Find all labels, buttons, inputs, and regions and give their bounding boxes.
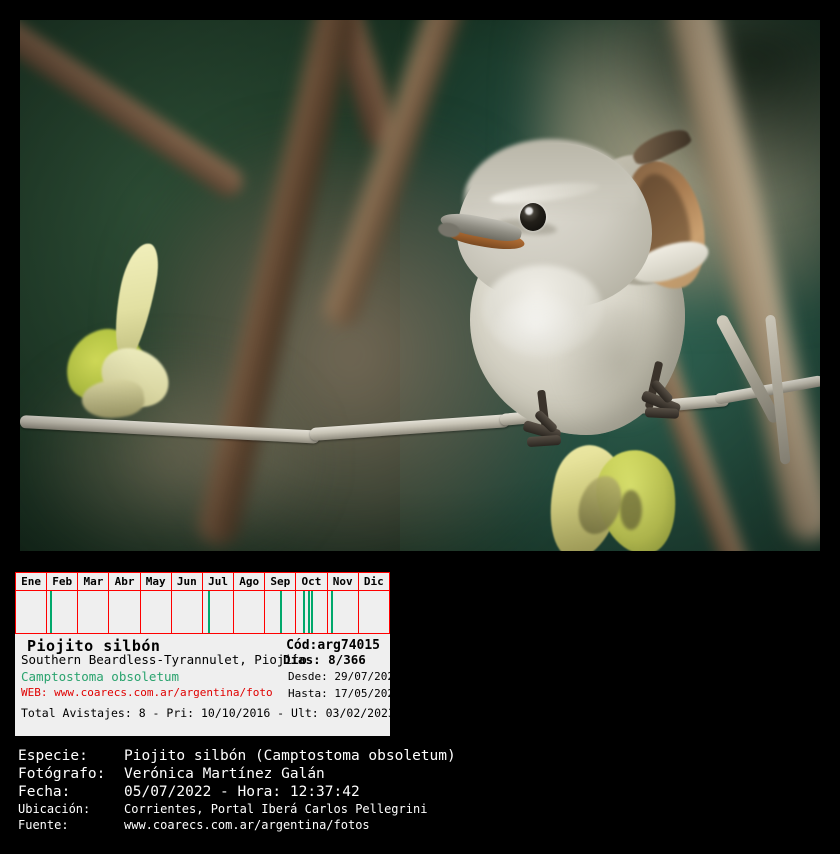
month-header-mar: Mar xyxy=(78,573,109,591)
sighting-tick xyxy=(311,591,313,633)
meta-label-fotografo: Fotógrafo: xyxy=(18,766,124,782)
month-header-ene: Ene xyxy=(16,573,47,591)
month-header-ago: Ago xyxy=(234,573,265,591)
month-header-sep: Sep xyxy=(265,573,296,591)
month-header-dic: Dic xyxy=(358,573,389,591)
month-header-may: May xyxy=(140,573,171,591)
card-text-block: Piojito silbón Cód:arg74015 Southern Bea… xyxy=(15,634,390,734)
card-desde-date: Desde: 29/07/2022 xyxy=(288,670,401,683)
metadata-block: Especie: Piojito silbón (Camptostoma obs… xyxy=(18,748,822,834)
calendar-cell-mar xyxy=(78,591,109,634)
meta-row-fuente: Fuente: www.coarecs.com.ar/argentina/fot… xyxy=(18,818,822,832)
month-header-feb: Feb xyxy=(47,573,78,591)
calendar-cell-abr xyxy=(109,591,140,634)
calendar-cell-jul xyxy=(202,591,233,634)
sighting-tick xyxy=(303,591,305,633)
species-info-card: Ene Feb Mar Abr May Jun Jul Ago Sep Oct … xyxy=(15,572,390,736)
calendar-cell-ene xyxy=(16,591,47,634)
meta-row-fotografo: Fotógrafo: Verónica Martínez Galán xyxy=(18,766,822,782)
meta-row-especie: Especie: Piojito silbón (Camptostoma obs… xyxy=(18,748,822,764)
calendar-cell-oct xyxy=(296,591,327,634)
card-title-row: Piojito silbón Cód:arg74015 xyxy=(21,637,384,653)
calendar-cell-nov xyxy=(327,591,358,634)
meta-value-ubicacion: Corrientes, Portal Iberá Carlos Pellegri… xyxy=(124,802,427,816)
calendar-ticks-row xyxy=(16,591,390,634)
calendar-header-row: Ene Feb Mar Abr May Jun Jul Ago Sep Oct … xyxy=(16,573,390,591)
month-header-abr: Abr xyxy=(109,573,140,591)
card-total-sightings: Total Avistajes: 8 - Pri: 10/10/2016 - U… xyxy=(21,706,395,720)
calendar-cell-dic xyxy=(358,591,389,634)
meta-row-fecha: Fecha: 05/07/2022 - Hora: 12:37:42 xyxy=(18,784,822,800)
meta-value-fuente[interactable]: www.coarecs.com.ar/argentina/fotos xyxy=(124,818,370,832)
card-web-link[interactable]: WEB: www.coarecs.com.ar/argentina/foto xyxy=(21,686,273,699)
meta-label-fecha: Fecha: xyxy=(18,784,124,800)
sighting-tick xyxy=(331,591,333,633)
sighting-tick xyxy=(280,591,282,633)
card-scientific-name: Camptostoma obsoletum xyxy=(21,669,179,684)
meta-label-fuente: Fuente: xyxy=(18,818,124,832)
meta-label-especie: Especie: xyxy=(18,748,124,764)
meta-value-fecha: 05/07/2022 - Hora: 12:37:42 xyxy=(124,784,360,800)
sighting-tick xyxy=(50,591,52,633)
month-header-nov: Nov xyxy=(327,573,358,591)
sighting-tick xyxy=(208,591,210,633)
meta-value-especie: Piojito silbón (Camptostoma obsoletum) xyxy=(124,748,456,764)
meta-row-ubicacion: Ubicación: Corrientes, Portal Iberá Carl… xyxy=(18,802,822,816)
calendar-cell-sep xyxy=(265,591,296,634)
monthly-sightings-calendar: Ene Feb Mar Abr May Jun Jul Ago Sep Oct … xyxy=(15,572,390,634)
bird-photo xyxy=(20,20,820,551)
meta-label-ubicacion: Ubicación: xyxy=(18,802,124,816)
month-header-jul: Jul xyxy=(202,573,233,591)
calendar-cell-ago xyxy=(234,591,265,634)
card-hasta-date: Hasta: 17/05/2025 xyxy=(288,687,401,700)
card-code: Cód:arg74015 xyxy=(286,638,380,653)
month-header-jun: Jun xyxy=(171,573,202,591)
card-days-counter: Días: 8/366 xyxy=(283,652,366,667)
calendar-cell-may xyxy=(140,591,171,634)
sighting-tick xyxy=(308,591,310,633)
month-header-oct: Oct xyxy=(296,573,327,591)
meta-value-fotografo: Verónica Martínez Galán xyxy=(124,766,325,782)
photo-vignette xyxy=(20,20,820,551)
calendar-cell-jun xyxy=(171,591,202,634)
card-common-name-en: Southern Beardless-Tyrannulet, Piojito xyxy=(21,652,307,667)
calendar-cell-feb xyxy=(47,591,78,634)
